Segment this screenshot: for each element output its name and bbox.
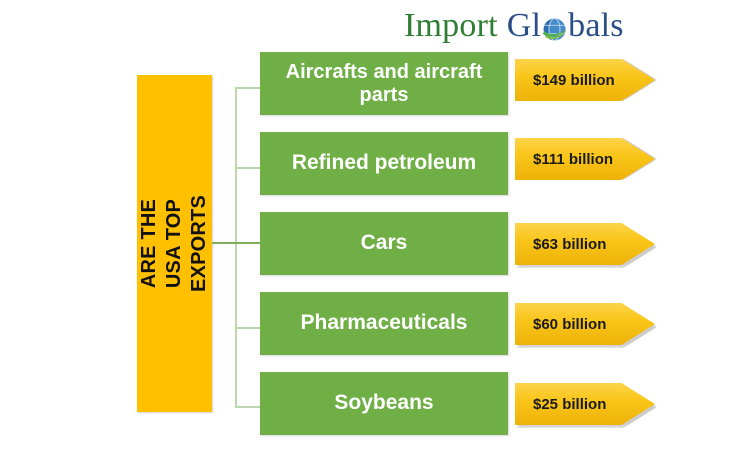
export-value-arrow: $149 billion (515, 59, 655, 101)
connector-branch-5 (235, 406, 261, 408)
globe-icon (541, 16, 568, 43)
brand-word-import: Import (404, 9, 498, 43)
brand-word-gl: Gl (507, 9, 541, 43)
question-title-line2: EXPORTS 2023? (187, 195, 212, 292)
connector-branch-1 (235, 87, 261, 89)
connector-branch-4 (235, 327, 261, 329)
brand-word-bals: bals (568, 9, 624, 43)
question-title-text: WHAT ARE THE USA TOP EXPORTS 2023? (137, 195, 212, 292)
brand-logo: Import Gl bals (404, 4, 624, 48)
export-category-bar: Refined petroleum (260, 132, 508, 195)
question-title-block: WHAT ARE THE USA TOP EXPORTS 2023? (137, 75, 212, 412)
export-category-bar: Pharmaceuticals (260, 292, 508, 355)
connector-branch-3 (235, 242, 261, 244)
connector-stub (212, 242, 236, 244)
infographic-canvas: Import Gl bals WHAT ARE THE USA TOP EXPO… (0, 0, 750, 450)
connector-branch-2 (235, 167, 261, 169)
export-value-arrow: $111 billion (515, 138, 655, 180)
export-category-bar: Soybeans (260, 372, 508, 435)
export-category-bar: Aircrafts and aircraft parts (260, 52, 508, 115)
connector-spine (235, 87, 237, 407)
export-category-bar: Cars (260, 212, 508, 275)
question-title-line1: WHAT ARE THE USA TOP (137, 195, 187, 292)
